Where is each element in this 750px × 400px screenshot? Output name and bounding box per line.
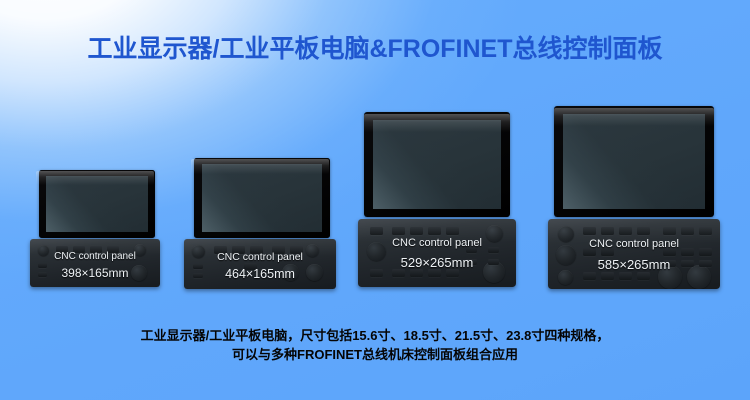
panel-button[interactable]: [392, 227, 405, 235]
monitor-screen-4: [563, 114, 705, 209]
panel-title-1: CNC control panel: [30, 251, 160, 262]
monitor-1: [39, 170, 155, 238]
panel-button[interactable]: [446, 227, 459, 235]
panel-size-2: 464×165mm: [184, 267, 336, 281]
panel-button[interactable]: [583, 272, 596, 280]
panel-button[interactable]: [699, 227, 712, 235]
panel-button[interactable]: [637, 272, 650, 280]
panel-button[interactable]: [681, 227, 694, 235]
caption-line-1: 工业显示器/工业平板电脑，尺寸包括15.6寸、18.5寸、21.5寸、23.8寸…: [0, 326, 750, 345]
monitor-3: [364, 112, 510, 217]
panel-button[interactable]: [637, 227, 650, 235]
panel-button[interactable]: [583, 227, 596, 235]
monitor-2: [194, 158, 330, 238]
panel-button[interactable]: [392, 269, 405, 277]
panel-button[interactable]: [428, 227, 441, 235]
panel-size-3: 529×265mm: [358, 255, 516, 270]
panel-button[interactable]: [663, 227, 676, 235]
panel-button[interactable]: [410, 269, 423, 277]
panel-button[interactable]: [619, 227, 632, 235]
panel-title-2: CNC control panel: [184, 251, 336, 263]
monitor-screen-1: [46, 176, 148, 232]
device-card-4: CNC control panel 585×265mm: [548, 106, 720, 289]
page-title: 工业显示器/工业平板电脑&FROFINET总线控制面板: [0, 34, 750, 64]
panel-button[interactable]: [428, 269, 441, 277]
panel-size-4: 585×265mm: [548, 257, 720, 272]
device-card-1: CNC control panel 398×165mm: [30, 170, 160, 287]
control-panel-4: CNC control panel 585×265mm: [548, 219, 720, 289]
panel-title-4: CNC control panel: [548, 238, 720, 250]
control-panel-3: CNC control panel 529×265mm: [358, 219, 516, 287]
promo-banner: 工业显示器/工业平板电脑&FROFINET总线控制面板 CNC control …: [0, 0, 750, 400]
device-card-2: CNC control panel 464×165mm: [184, 158, 336, 289]
panel-button[interactable]: [601, 227, 614, 235]
panel-button[interactable]: [446, 269, 459, 277]
panel-title-3: CNC control panel: [358, 237, 516, 249]
panel-knob-icon[interactable]: [558, 270, 573, 285]
caption-line-2: 可以与多种FROFINET总线机床控制面板组合应用: [0, 345, 750, 364]
panel-size-1: 398×165mm: [30, 266, 160, 280]
monitor-screen-3: [373, 120, 501, 209]
monitor-4: [554, 106, 714, 217]
panel-button[interactable]: [601, 272, 614, 280]
monitor-screen-2: [202, 164, 322, 232]
panel-button[interactable]: [370, 269, 383, 277]
caption-block: 工业显示器/工业平板电脑，尺寸包括15.6寸、18.5寸、21.5寸、23.8寸…: [0, 326, 750, 364]
control-panel-2: CNC control panel 464×165mm: [184, 239, 336, 289]
device-card-3: CNC control panel 529×265mm: [358, 112, 516, 287]
control-panel-1: CNC control panel 398×165mm: [30, 239, 160, 287]
panel-button[interactable]: [619, 272, 632, 280]
panel-button[interactable]: [370, 227, 383, 235]
panel-button[interactable]: [410, 227, 423, 235]
